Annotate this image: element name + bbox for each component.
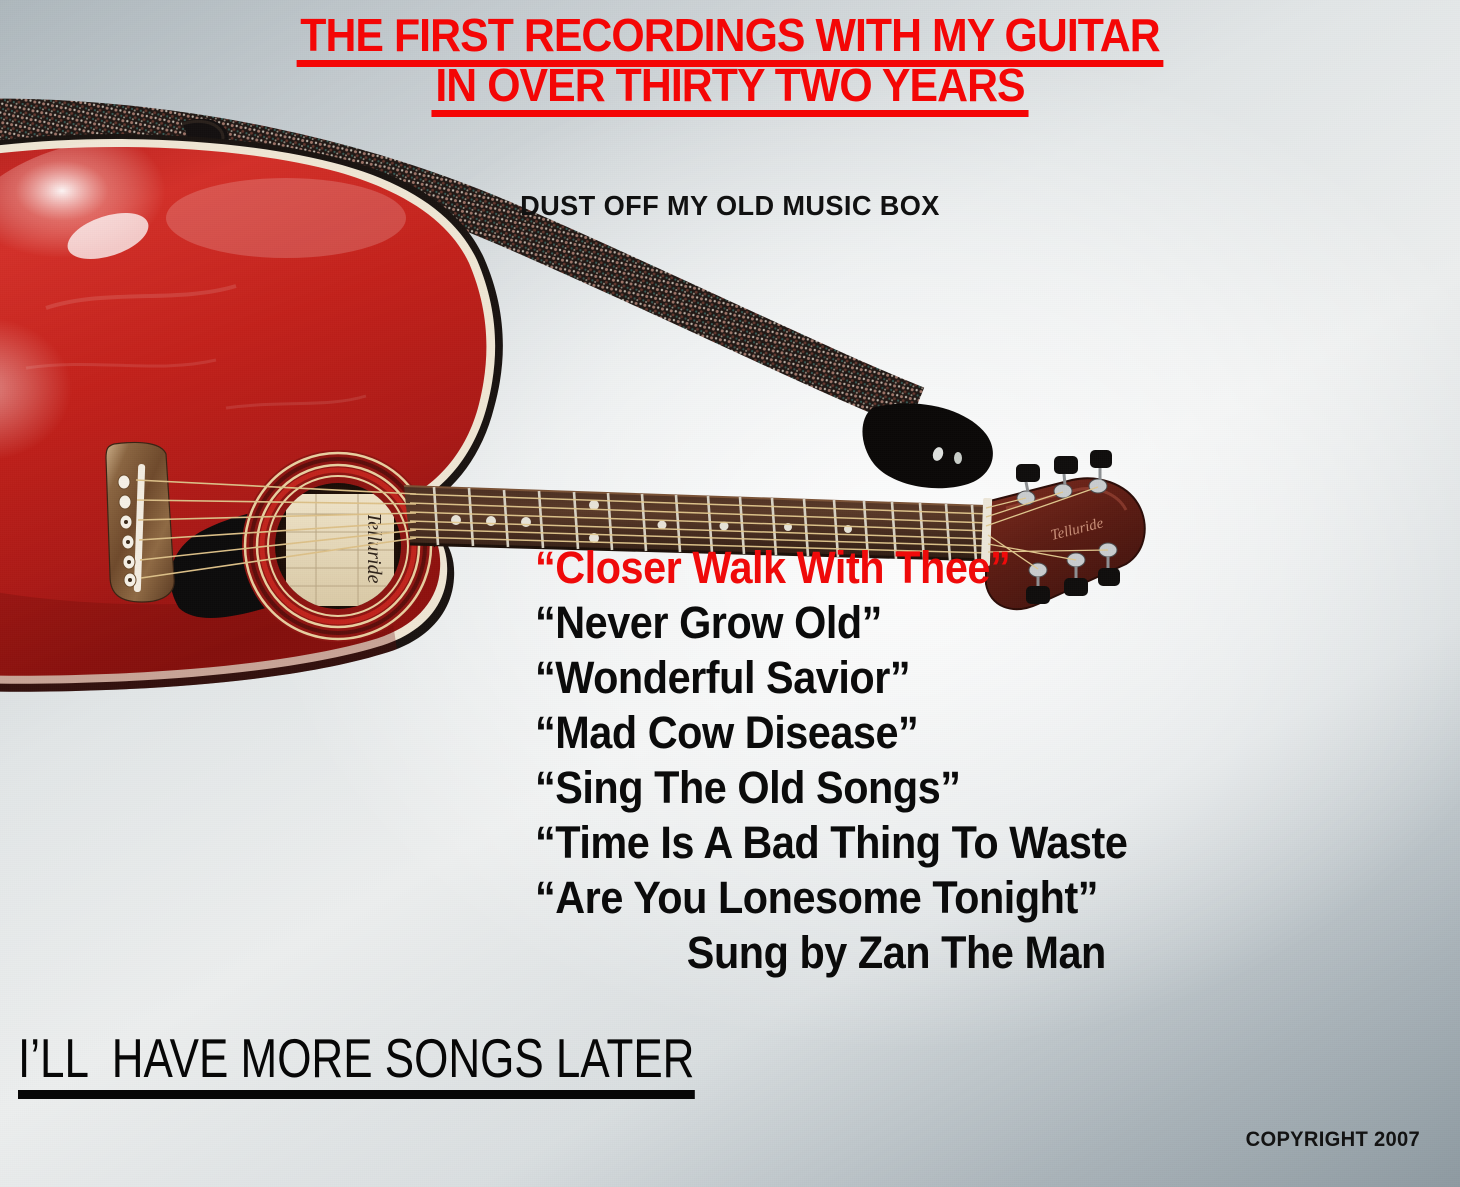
song-list-item: “Are You Lonesome Tonight”: [535, 870, 1234, 925]
poster: Telluride: [0, 0, 1460, 1187]
bridge-pins: [118, 475, 136, 587]
bridge: [106, 442, 174, 602]
poster-title-line-2: IN OVER THIRTY TWO YEARS: [51, 62, 1409, 117]
song-list-item: “Sing The Old Songs”: [535, 760, 1234, 815]
soundhole: Telluride: [242, 450, 434, 642]
poster-title-line-2-text: IN OVER THIRTY TWO YEARS: [432, 62, 1029, 117]
artist-credit: Sung by Zan The Man: [535, 925, 1234, 980]
song-list-item: “Never Grow Old”: [535, 595, 1234, 650]
footer-note: I’LL HAVE MORE SONGS LATER: [18, 1030, 694, 1099]
song-list-item: “Closer Walk With Thee”: [535, 540, 1234, 595]
strings-body: [136, 480, 416, 578]
poster-subtitle: DUST OFF MY OLD MUSIC BOX: [22, 190, 1438, 222]
guitar-brand-label: Telluride: [363, 512, 385, 584]
copyright-notice: COPYRIGHT 2007: [1246, 1128, 1420, 1152]
song-list-item: “Wonderful Savior”: [535, 650, 1234, 705]
strap-end-block: [862, 403, 992, 488]
guitar-strap: [0, 119, 916, 408]
song-list-item: “Mad Cow Disease”: [535, 705, 1234, 760]
fret-inlays: [451, 500, 852, 543]
song-list: “Closer Walk With Thee” “Never Grow Old”…: [535, 540, 1295, 980]
song-list-item: “Time Is A Bad Thing To Waste: [535, 815, 1234, 870]
pickguard-shape: [170, 502, 442, 618]
